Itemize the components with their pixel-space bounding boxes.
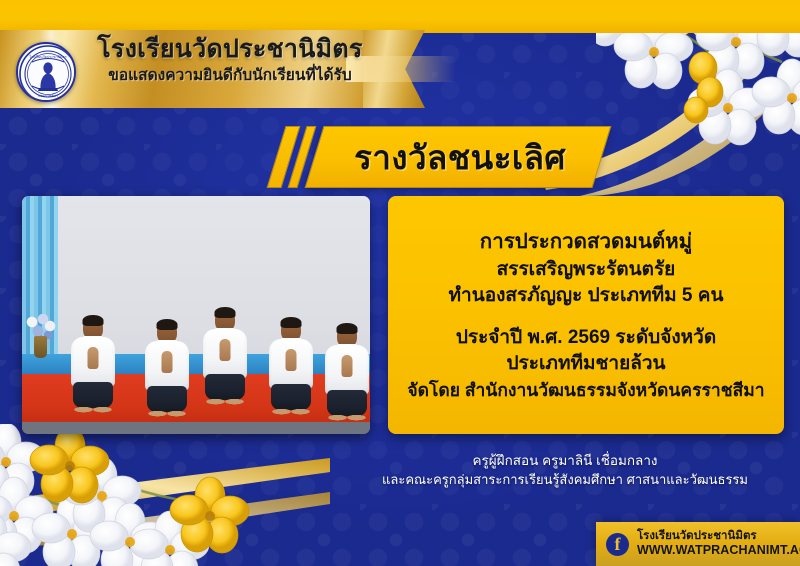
svg-text:โรงเรียนวัดประชานิมิตร: โรงเรียนวัดประชานิมิตร bbox=[29, 54, 66, 59]
svg-text:นครราชสีมา: นครราชสีมา bbox=[38, 93, 58, 98]
student-knees bbox=[74, 404, 112, 418]
student-3 bbox=[194, 308, 256, 420]
contest-team-type-line: ประเภททีมชายล้วน bbox=[506, 351, 665, 377]
student-1 bbox=[64, 316, 122, 420]
vase-bowl bbox=[34, 336, 47, 358]
student-hair bbox=[215, 307, 236, 318]
student-wai-hands bbox=[286, 349, 297, 371]
department-teachers-line: และคณะครูกลุ่มสาระการเรียนรู้สังคมศึกษา … bbox=[330, 471, 800, 489]
header-text-block: โรงเรียนวัดประชานิมิตร ขอแสดงความยินดีกั… bbox=[84, 36, 376, 86]
student-5 bbox=[320, 324, 370, 420]
student-hair bbox=[83, 315, 104, 326]
footer-contact-bar[interactable]: f โรงเรียนวัดประชานิมิตร WWW.WATPRACHANI… bbox=[596, 522, 800, 566]
poster-canvas: โรงเรียนวัดประชานิมิตร นครราชสีมา โรงเรี… bbox=[0, 0, 800, 566]
student-hair bbox=[337, 323, 358, 334]
contest-year-level-line: ประจำปี พ.ศ. 2569 ระดับจังหวัด bbox=[456, 325, 716, 351]
student-knees bbox=[272, 406, 310, 420]
contest-organizer-line: จัดโดย สำนักงานวัฒนธรรมจังหวัดนครราชสีมา bbox=[407, 378, 764, 402]
student-wai-hands bbox=[220, 339, 231, 361]
award-photo bbox=[22, 196, 370, 434]
award-details-panel: การประกวดสวดมนต์หมู่ สรรเสริญพระรัตนตรัย… bbox=[388, 196, 784, 434]
student-2 bbox=[138, 320, 196, 420]
student-knees bbox=[328, 412, 366, 426]
footer-text-block: โรงเรียนวัดประชานิมิตร WWW.WATPRACHANIMT… bbox=[637, 529, 800, 558]
student-hair bbox=[281, 317, 302, 328]
award-title-text: รางวัลชนะเลิศ bbox=[320, 126, 600, 188]
contest-subtitle-line: สรรเสริญพระรัตนตรัย bbox=[497, 257, 676, 283]
facebook-icon[interactable]: f bbox=[606, 533, 629, 556]
school-seal-logo: โรงเรียนวัดประชานิมิตร นครราชสีมา bbox=[16, 42, 76, 102]
coach-teacher-line: ครูผู้ฝึกสอน ครูมาลินี เชื่อมกลาง bbox=[330, 452, 800, 471]
contest-name-line: การประกวดสวดมนต์หมู่ bbox=[480, 228, 692, 256]
student-knees bbox=[206, 396, 244, 410]
congratulations-line: ขอแสดงความยินดีกับนักเรียนที่ได้รับ bbox=[84, 67, 376, 86]
website-url[interactable]: WWW.WATPRACHANIMT.AC.TH bbox=[637, 543, 800, 558]
student-wai-hands bbox=[342, 355, 353, 377]
contest-category-line: ทำนองสรภัญญะ ประเภททีม 5 คน bbox=[449, 283, 724, 309]
award-title-banner: รางวัลชนะเลิศ bbox=[272, 126, 602, 188]
student-knees bbox=[148, 408, 186, 422]
teacher-credits: ครูผู้ฝึกสอน ครูมาลินี เชื่อมกลาง และคณะ… bbox=[330, 452, 800, 489]
facebook-page-name: โรงเรียนวัดประชานิมิตร bbox=[637, 529, 800, 543]
top-yellow-strip bbox=[0, 0, 800, 33]
student-4 bbox=[262, 318, 320, 420]
photo-flower-vase bbox=[26, 314, 56, 358]
photo-floor bbox=[22, 422, 370, 434]
student-hair bbox=[157, 319, 178, 330]
school-name: โรงเรียนวัดประชานิมิตร bbox=[84, 36, 376, 63]
student-wai-hands bbox=[88, 347, 99, 369]
student-wai-hands bbox=[162, 351, 173, 373]
